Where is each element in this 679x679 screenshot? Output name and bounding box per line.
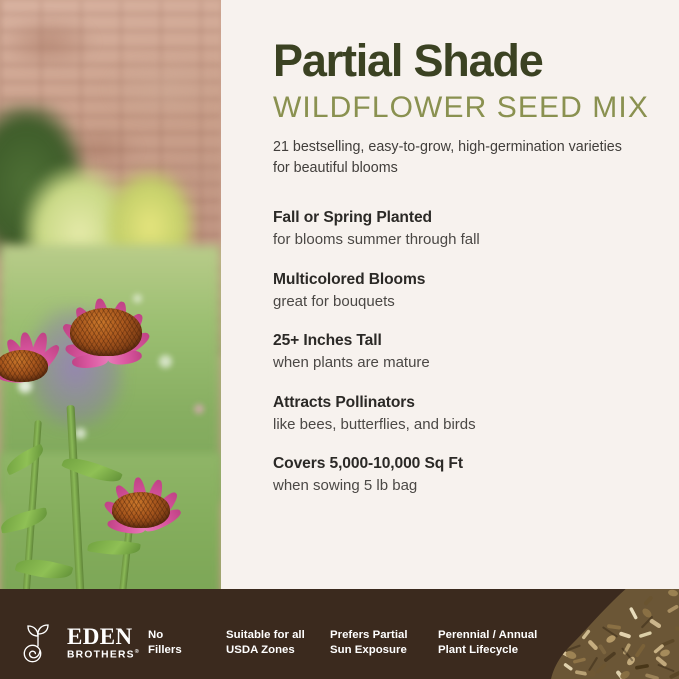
feature-title: Fall or Spring Planted <box>273 208 651 228</box>
feature-item: Covers 5,000-10,000 Sq Ft when sowing 5 … <box>273 454 651 497</box>
page-title: Partial Shade <box>273 38 651 83</box>
page-subtitle: WILDFLOWER SEED MIX <box>273 90 651 125</box>
logo-name: EDEN <box>67 625 140 648</box>
registered-trademark-icon: ® <box>135 649 140 655</box>
content-panel: Partial Shade WILDFLOWER SEED MIX 21 bes… <box>221 0 679 612</box>
logo-wordmark: EDEN BROTHERS® <box>67 625 140 661</box>
feature-title: 25+ Inches Tall <box>273 331 651 351</box>
product-photo <box>0 0 221 612</box>
feature-subtitle: when sowing 5 lb bag <box>273 476 651 496</box>
footer-bar: EDEN BROTHERS® No Fillers Suitable for a… <box>0 589 679 679</box>
badge-sun-exposure: Prefers Partial Sun Exposure <box>330 628 438 659</box>
feature-item: Attracts Pollinators like bees, butterfl… <box>273 393 651 436</box>
feature-title: Covers 5,000-10,000 Sq Ft <box>273 454 651 474</box>
coneflower-center <box>112 492 170 528</box>
coneflower-bloom <box>86 480 204 580</box>
feature-item: 25+ Inches Tall when plants are mature <box>273 331 651 374</box>
product-description: 21 bestselling, easy-to-grow, high-germi… <box>273 137 623 179</box>
feature-item: Multicolored Blooms great for bouquets <box>273 270 651 313</box>
sprout-icon <box>18 622 58 664</box>
coneflower-center <box>70 308 142 356</box>
eden-brothers-logo[interactable]: EDEN BROTHERS® <box>18 622 148 664</box>
logo-subname: BROTHERS® <box>67 650 140 661</box>
feature-title: Attracts Pollinators <box>273 393 651 413</box>
feature-title: Multicolored Blooms <box>273 270 651 290</box>
feature-subtitle: when plants are mature <box>273 353 651 373</box>
feature-subtitle: like bees, butterflies, and birds <box>273 415 651 435</box>
feature-list: Fall or Spring Planted for blooms summer… <box>273 208 651 497</box>
badge-usda-zones: Suitable for all USDA Zones <box>226 628 330 659</box>
badge-no-fillers: No Fillers <box>148 628 226 659</box>
feature-item: Fall or Spring Planted for blooms summer… <box>273 208 651 251</box>
feature-subtitle: great for bouquets <box>273 292 651 312</box>
seed-pile-image <box>515 589 679 679</box>
coneflower-bloom <box>38 300 178 420</box>
feature-subtitle: for blooms summer through fall <box>273 230 651 250</box>
